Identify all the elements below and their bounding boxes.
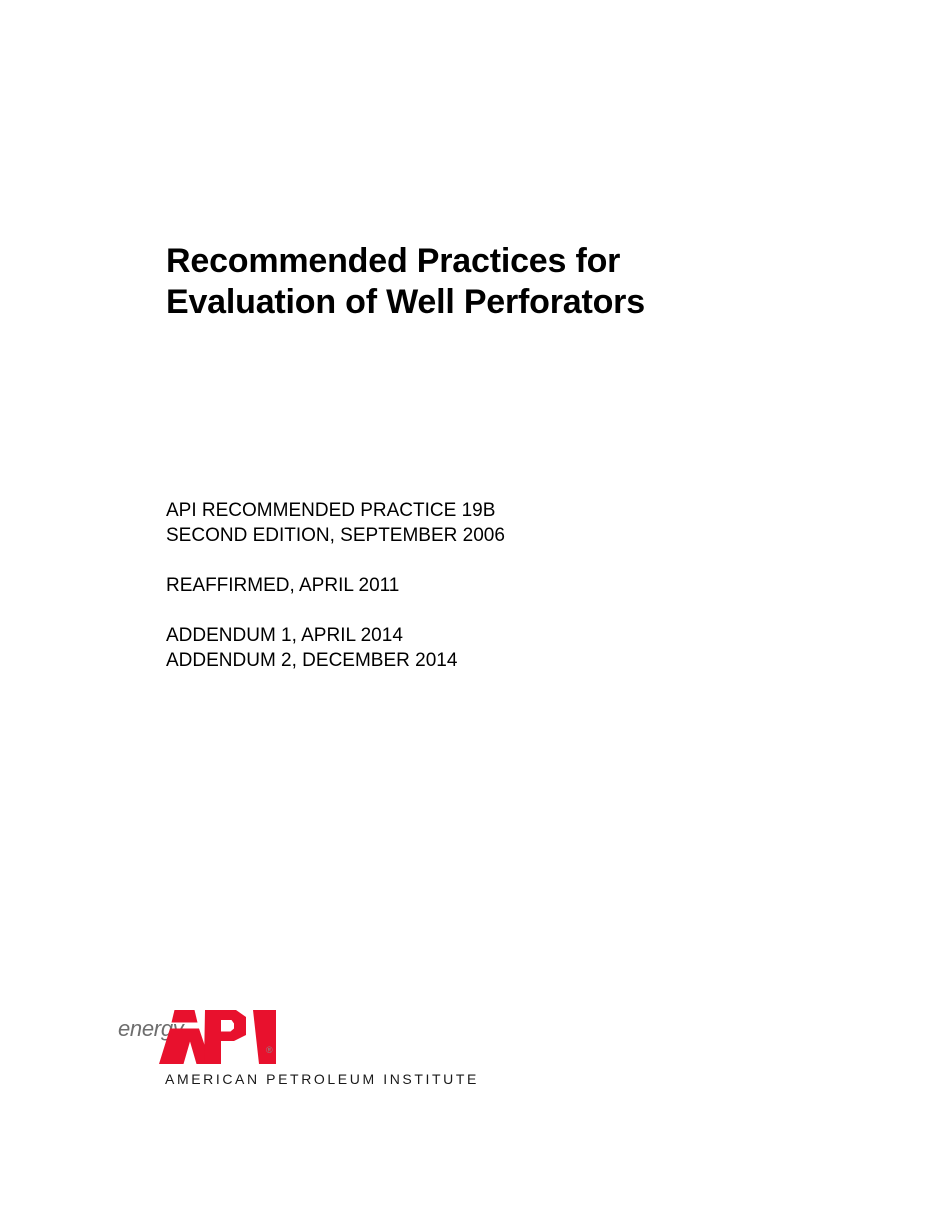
metadata-line-reaffirmed: REAFFIRMED, APRIL 2011 (166, 573, 786, 598)
title-line-1: Recommended Practices for (166, 241, 786, 282)
api-wordmark-icon (158, 1008, 283, 1066)
metadata-group-addenda: ADDENDUM 1, APRIL 2014 ADDENDUM 2, DECEM… (166, 623, 786, 673)
page-title: Recommended Practices for Evaluation of … (166, 241, 786, 323)
title-line-2: Evaluation of Well Perforators (166, 282, 786, 323)
api-logo: energy ® AMERICAN PETROLEUM INSTITUTE (118, 1008, 458, 1070)
metadata-group-standard: API RECOMMENDED PRACTICE 19B SECOND EDIT… (166, 498, 786, 548)
registered-trademark-icon: ® (266, 1046, 273, 1055)
metadata-line-edition: SECOND EDITION, SEPTEMBER 2006 (166, 523, 786, 548)
document-cover-page: Recommended Practices for Evaluation of … (0, 0, 950, 1230)
api-logo-mark: energy ® AMERICAN PETROLEUM INSTITUTE (118, 1008, 288, 1070)
api-logo-tagline: AMERICAN PETROLEUM INSTITUTE (165, 1071, 479, 1087)
metadata-line-addendum-2: ADDENDUM 2, DECEMBER 2014 (166, 648, 786, 673)
metadata-line-addendum-1: ADDENDUM 1, APRIL 2014 (166, 623, 786, 648)
document-metadata: API RECOMMENDED PRACTICE 19B SECOND EDIT… (166, 498, 786, 673)
metadata-group-reaffirmed: REAFFIRMED, APRIL 2011 (166, 573, 786, 598)
metadata-line-practice-number: API RECOMMENDED PRACTICE 19B (166, 498, 786, 523)
